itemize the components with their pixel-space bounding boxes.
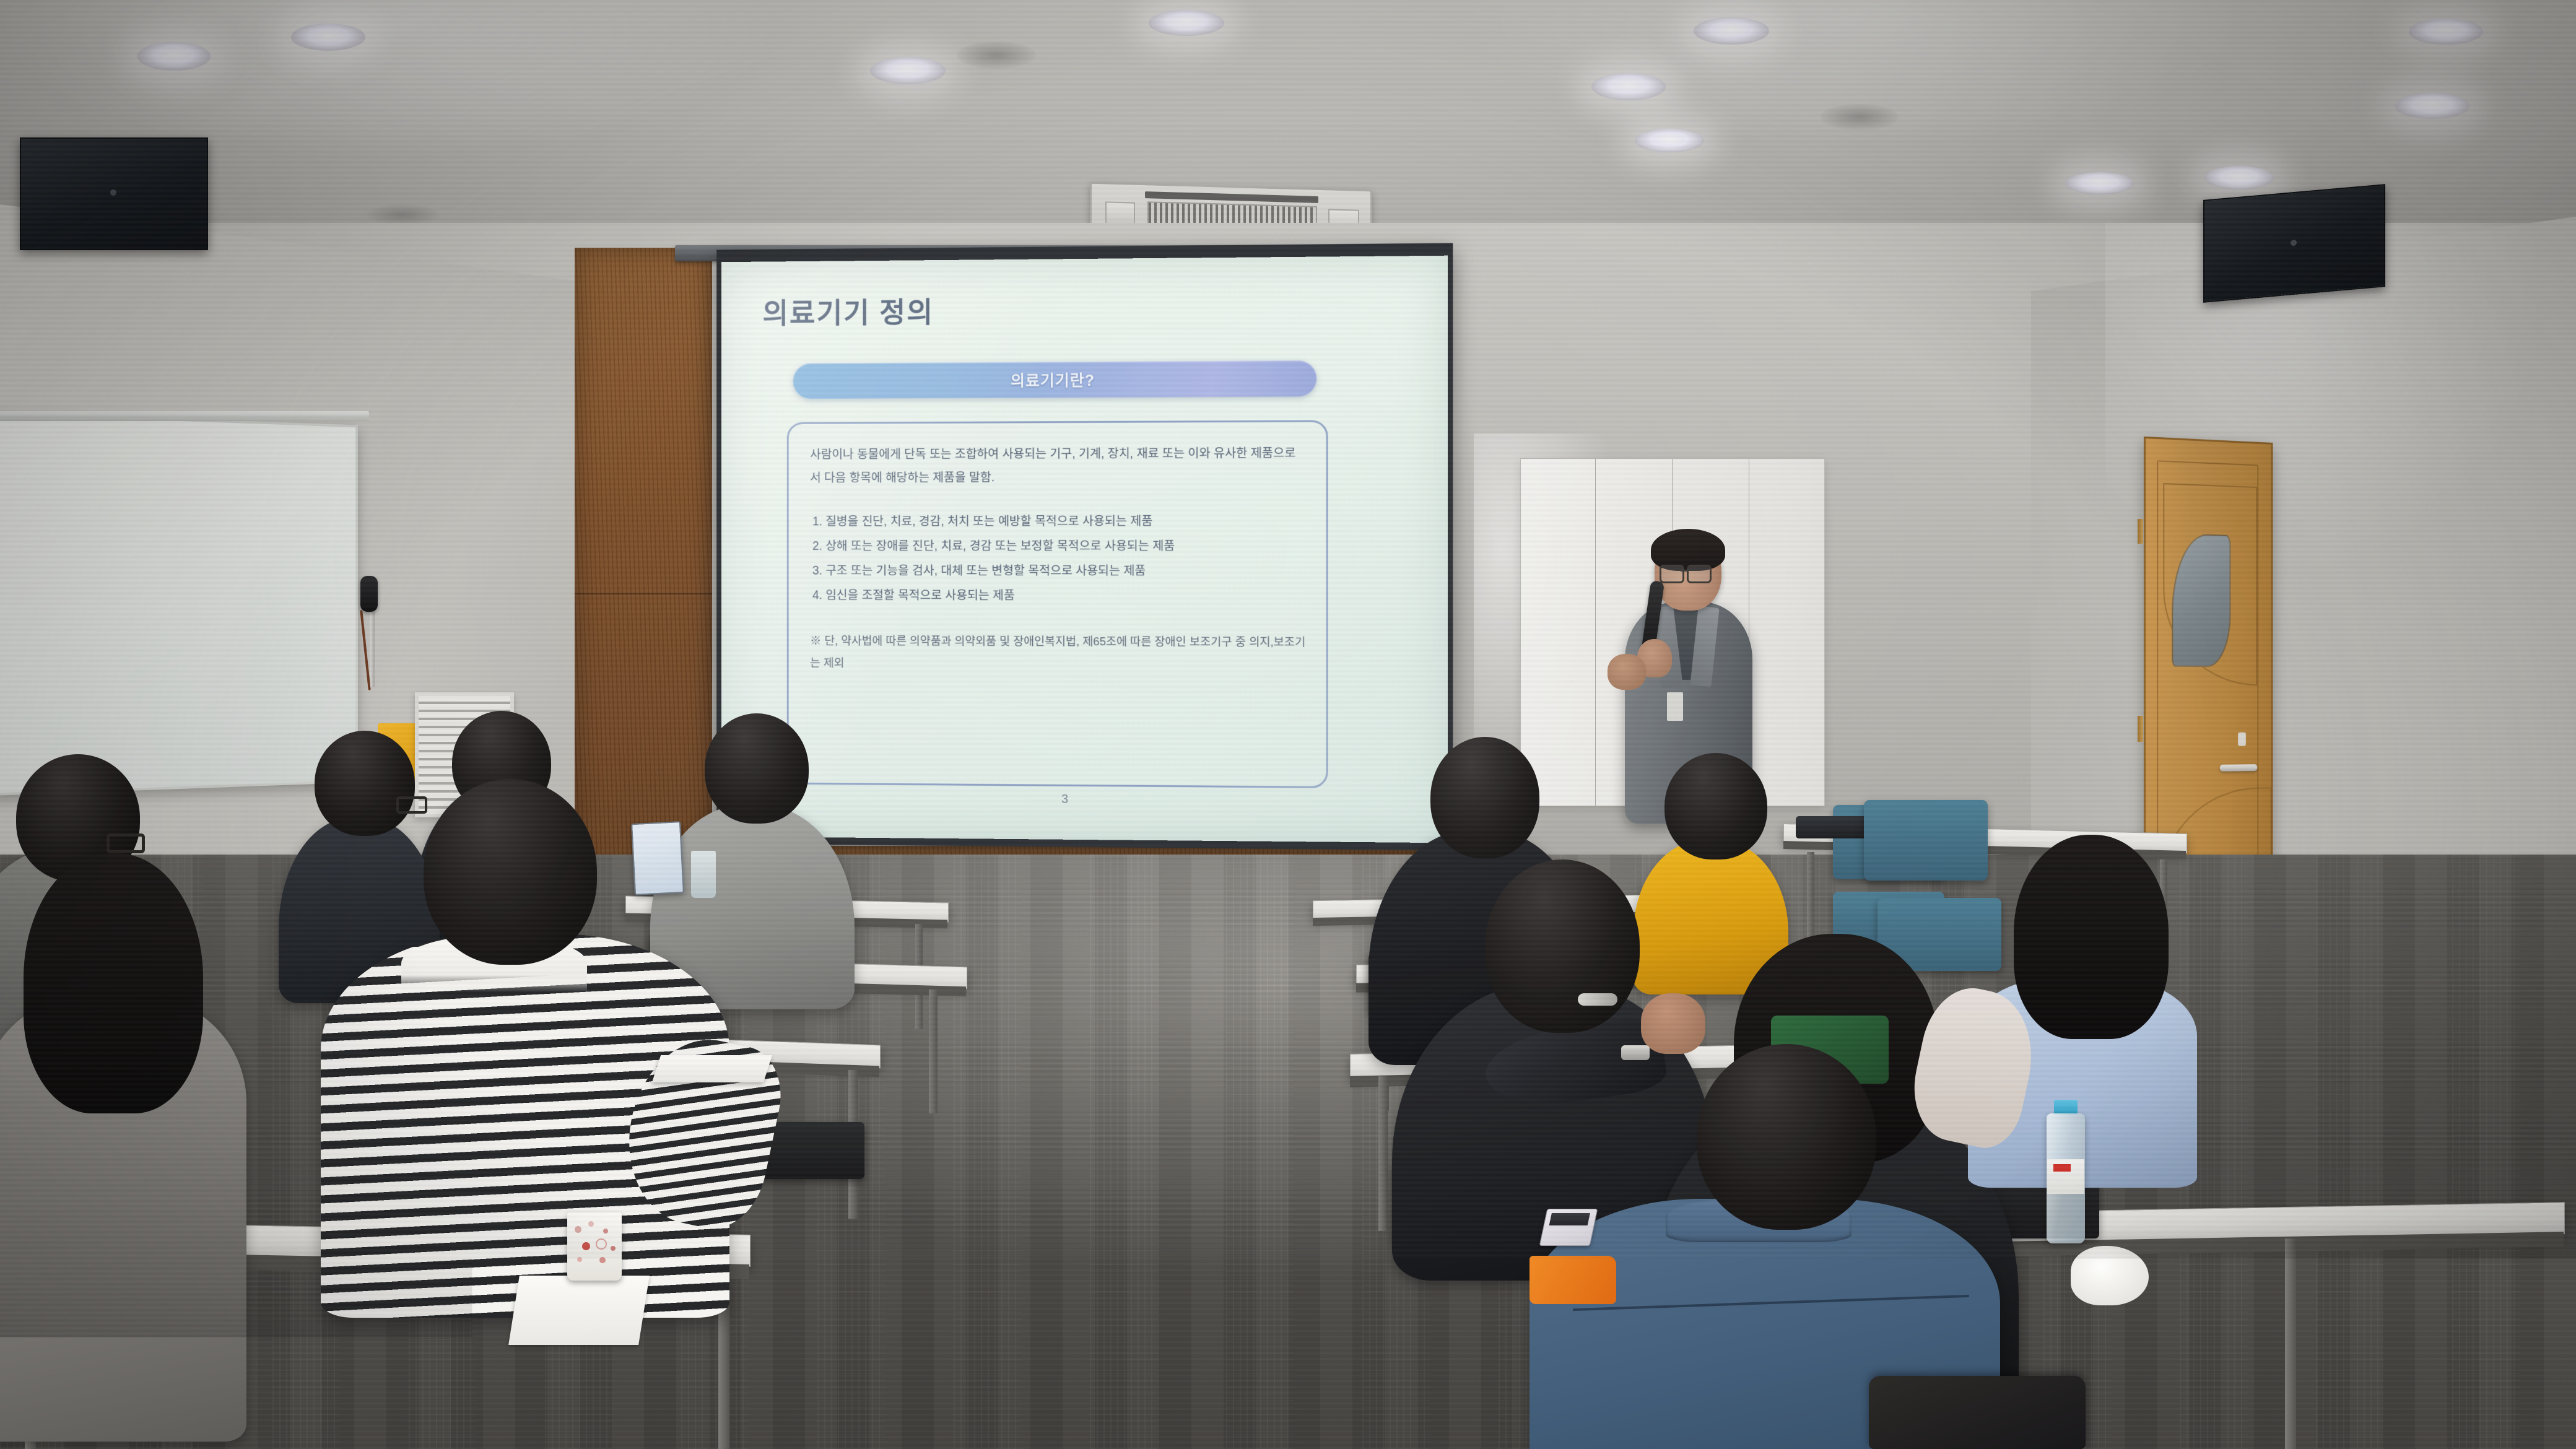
bottle-label-mark	[2053, 1164, 2071, 1172]
eyeglasses-icon	[107, 833, 145, 853]
drinking-glass	[691, 851, 716, 898]
person-head	[315, 731, 415, 836]
eyeglasses-icon	[396, 796, 427, 814]
desk-leg	[1378, 1076, 1388, 1231]
ceiling-downlight	[2395, 93, 2469, 119]
ceiling-downlight	[2066, 172, 2134, 194]
tablet[interactable]	[631, 821, 684, 895]
left-wall-speaker	[20, 137, 208, 250]
chair[interactable]	[1864, 800, 1988, 881]
ceiling-downlight	[291, 24, 365, 51]
slide-list-item: 2. 상해 또는 장애를 진단, 치료, 경감 또는 보정할 목적으로 사용되는…	[812, 534, 1307, 559]
whiteboard	[0, 412, 358, 796]
slide-title: 의료기기 정의	[763, 290, 934, 332]
eyeglasses-icon	[1660, 565, 1684, 583]
ceiling-vent-disc	[1821, 104, 1899, 130]
ac-intake-slot	[1145, 191, 1318, 203]
ceiling-downlight	[2204, 166, 2274, 189]
presenter-name-badge	[1667, 692, 1683, 721]
door-lock-icon[interactable]	[2238, 733, 2246, 746]
slide-item-list: 1. 질병을 진단, 치료, 경감, 처치 또는 예방할 목적으로 사용되는 제…	[812, 509, 1307, 609]
ceiling-downlight	[870, 57, 946, 84]
door-handle[interactable]	[2220, 764, 2258, 772]
ceiling-vent-disc	[365, 204, 440, 225]
ceiling-downlight	[137, 42, 211, 71]
hair-tie	[1578, 993, 1617, 1006]
slide-list-item: 3. 구조 또는 기능을 검사, 대체 또는 변형할 목적으로 사용되는 제품	[812, 559, 1307, 584]
eyeglasses-icon	[1687, 565, 1712, 583]
person-head	[1485, 859, 1640, 1033]
slide-footnote: ※ 단, 약사법에 따른 의약품과 의약외품 및 장애인복지법, 제65조에 따…	[810, 630, 1310, 676]
desk-leg	[2285, 1238, 2296, 1449]
projected-slide: 의료기기 정의 의료기기란? 사람이나 동물에게 단독 또는 조합하여 사용되는…	[721, 256, 1448, 843]
water-bottle[interactable]	[2043, 1100, 2088, 1243]
person-head	[424, 779, 597, 965]
door-hinge	[2138, 519, 2143, 544]
eyeglasses-bridge	[1681, 570, 1688, 572]
slide-list-item: 1. 질병을 진단, 치료, 경감, 처치 또는 예방할 목적으로 사용되는 제…	[812, 509, 1307, 534]
slide-list-item: 4. 임신을 조절할 목적으로 사용되는 제품	[812, 583, 1307, 609]
person-hair	[24, 853, 203, 1113]
person-head	[705, 713, 809, 824]
wood-panel-seam	[575, 593, 712, 594]
whiteboard-rail	[0, 411, 369, 421]
person-hand	[1641, 993, 1705, 1054]
phone-screen	[1549, 1213, 1590, 1225]
notepad	[2130, 1261, 2231, 1335]
right-wall-speaker	[2203, 184, 2385, 303]
ceiling-vent-disc	[957, 41, 1036, 69]
notepad	[652, 1055, 772, 1082]
wristwatch	[1621, 1045, 1650, 1060]
slide-banner: 의료기기란?	[793, 360, 1317, 399]
slide-banner-text: 의료기기란?	[1011, 368, 1095, 391]
paper-cup[interactable]	[567, 1212, 622, 1281]
ceiling-downlight	[1149, 10, 1224, 36]
lecture-room-photo: 의료기기 정의 의료기기란? 사람이나 동물에게 단독 또는 조합하여 사용되는…	[0, 0, 2576, 1449]
bottle-cap	[2054, 1100, 2078, 1115]
desk-leg	[929, 990, 938, 1113]
ceiling-downlight	[2409, 19, 2483, 45]
slide-lead-text: 사람이나 동물에게 단독 또는 조합하여 사용되는 기구, 기계, 장치, 재료…	[810, 442, 1304, 490]
door-hinge	[2138, 716, 2143, 742]
person-head	[1697, 1044, 1876, 1230]
microphone-icon	[360, 576, 378, 612]
ceiling-downlight	[1694, 17, 1769, 45]
backpack	[1869, 1376, 2086, 1449]
slide-page-number: 3	[1061, 793, 1068, 807]
desk-leg	[1807, 852, 1814, 945]
cabinet-seam	[1595, 459, 1596, 806]
person-head	[1430, 737, 1539, 858]
ceiling-downlight	[1591, 73, 1666, 100]
smartphone[interactable]	[1539, 1209, 1598, 1246]
notepad	[508, 1276, 650, 1345]
person-hair	[2014, 835, 2169, 1039]
ceiling-downlight	[1635, 129, 1704, 152]
presenter-hand	[1608, 654, 1646, 690]
orange-cloth	[1529, 1256, 1616, 1304]
person-head	[1664, 753, 1767, 859]
